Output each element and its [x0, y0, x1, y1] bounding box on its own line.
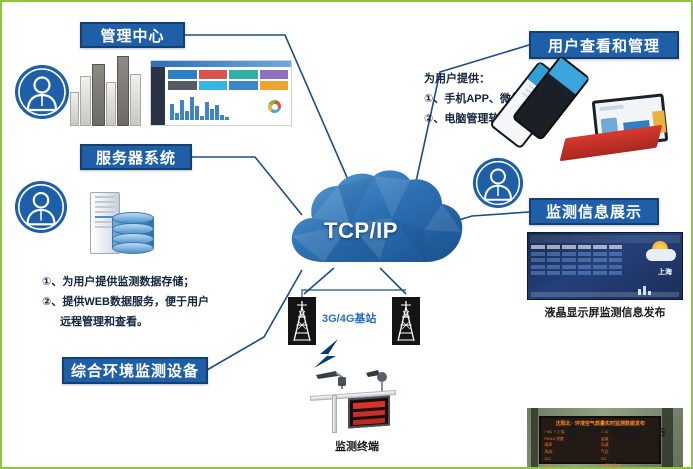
cell-tower-icon	[288, 297, 316, 345]
cell-tower-icon-2	[392, 297, 420, 345]
dashboard-screen-icon	[150, 60, 292, 126]
led-row: 气压	[601, 449, 656, 455]
server-note-line-1: ①、为用户提供监测数据存储；	[42, 274, 194, 291]
lcd-caption: 液晶显示屏监测信息发布	[527, 304, 683, 320]
led-row: SO2	[544, 463, 599, 469]
banner-monitoring-info-display[interactable]: 监测信息展示	[529, 198, 659, 225]
network-topology-diagram: TCP/IP 管理中心	[0, 0, 693, 469]
led-caption: LED显示屏监测信息发布	[527, 424, 683, 440]
cloud-label: TCP/IP	[324, 218, 398, 244]
lcd-display-screen: 上海	[527, 232, 683, 300]
led-row: 噪声	[544, 442, 599, 448]
user-person-icon	[14, 64, 70, 120]
led-row: 大气能见度	[601, 463, 656, 469]
banner-integrated-monitoring-equipment[interactable]: 综合环境监测设备	[62, 357, 208, 384]
lcd-mini-chart	[638, 277, 674, 287]
base-station-label: 3G/4G基站	[322, 310, 376, 326]
user-person-icon-2	[14, 180, 68, 234]
user-note-line-1: 为用户提供：	[424, 71, 490, 88]
server-database-icon	[86, 192, 160, 256]
banner-server-system[interactable]: 服务器系统	[80, 144, 192, 170]
banner-user-view-management[interactable]: 用户查看和管理	[529, 31, 679, 59]
lcd-city-label: 上海	[658, 267, 672, 277]
terminal-caption: 监测终端	[302, 438, 412, 454]
led-row: O3	[601, 456, 656, 462]
led-row: 风速	[601, 442, 656, 448]
led-row: CO	[544, 456, 599, 462]
user-person-icon-3	[472, 157, 524, 209]
led-row: 风向	[544, 449, 599, 455]
city-buildings-icon	[68, 54, 144, 126]
weather-cloud-icon	[646, 249, 676, 261]
donut-chart-icon	[268, 100, 281, 113]
server-note-line-2: ②、提供WEB数据服务，便于用户	[42, 294, 209, 311]
server-note-line-3: 远程管理和查看。	[60, 314, 148, 331]
monitoring-terminal-icon	[302, 365, 412, 433]
banner-management-center[interactable]: 管理中心	[80, 22, 185, 48]
